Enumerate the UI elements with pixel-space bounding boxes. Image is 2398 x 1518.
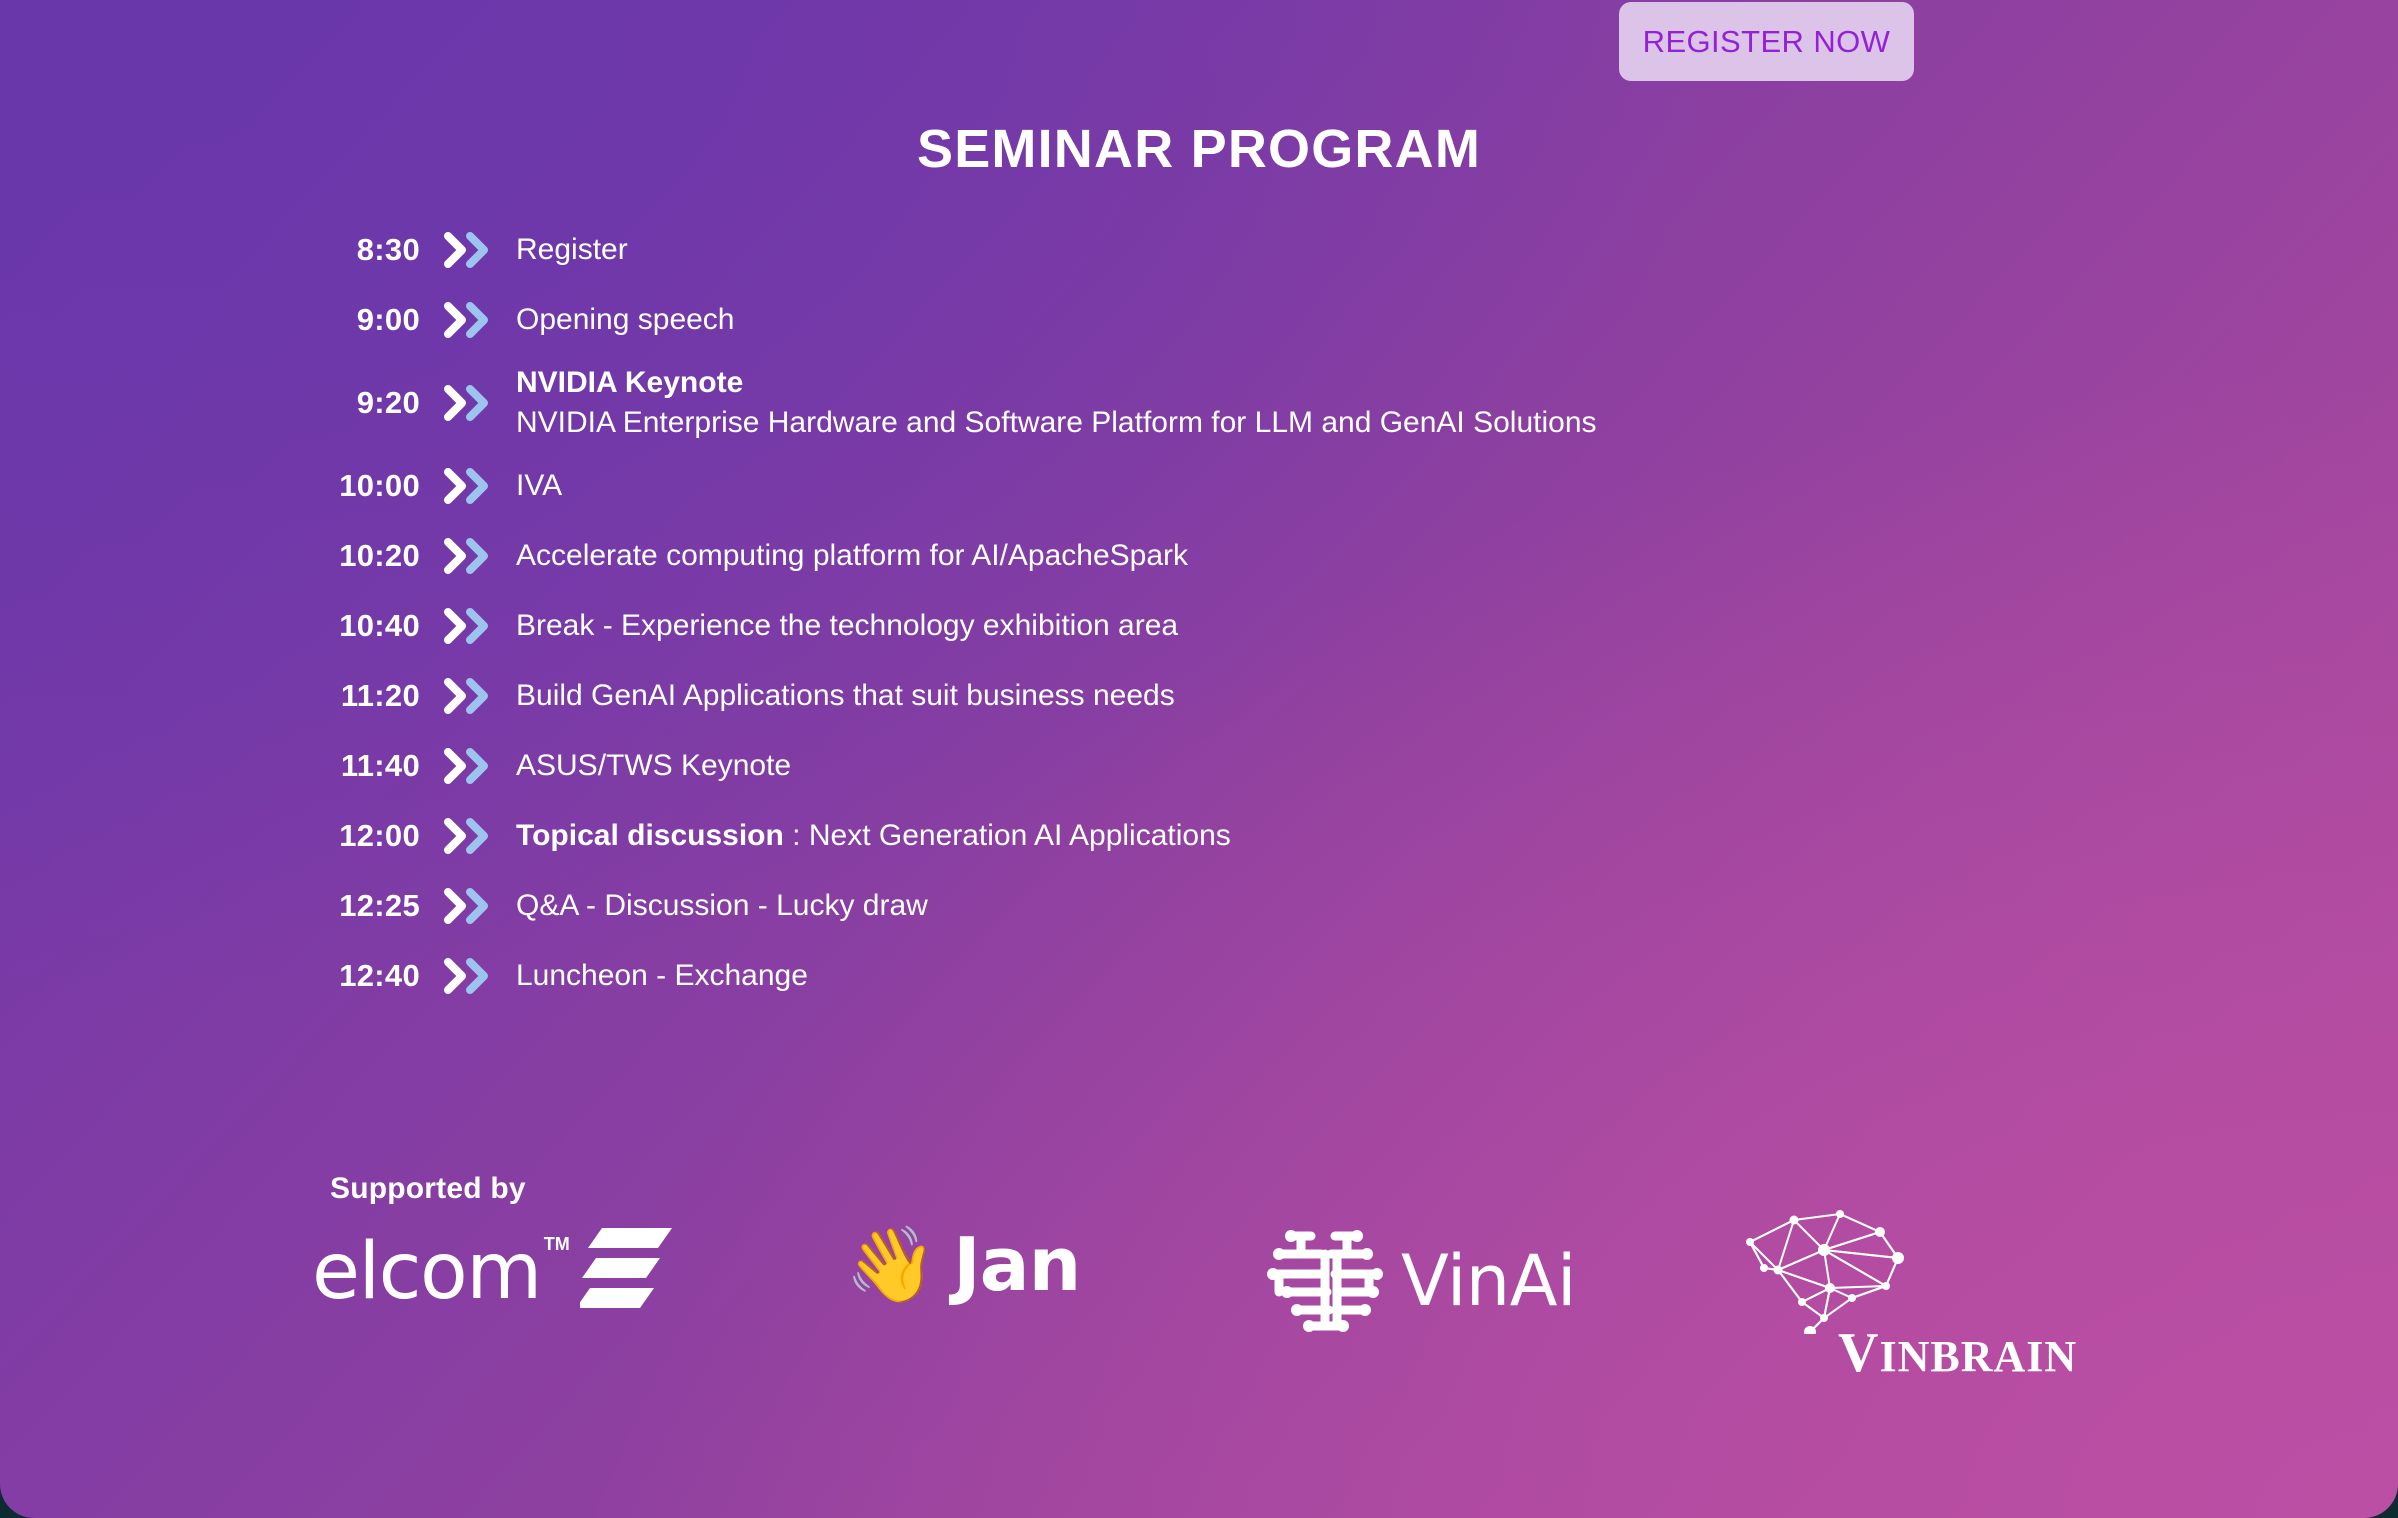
program-title: Luncheon - Exchange	[516, 959, 808, 992]
double-chevron-right-icon	[437, 748, 501, 784]
supported-by-label: Supported by	[330, 1172, 526, 1206]
program-time: 10:00	[300, 468, 420, 504]
program-time: 12:25	[300, 888, 420, 924]
elcom-wordmark: elcom	[312, 1233, 541, 1311]
program-title: Register	[516, 233, 628, 266]
program-description: Register	[516, 230, 628, 270]
program-description: Accelerate computing platform for AI/Apa…	[516, 536, 1188, 576]
vinai-wordmark: VinAi	[1401, 1246, 1576, 1316]
program-row: 12:40Luncheon - Exchange	[300, 941, 2000, 1011]
double-chevron-right-icon	[437, 818, 501, 854]
sponsor-logos: elcom TM 👋 Jan	[300, 1218, 2200, 1358]
double-chevron-right-icon	[437, 958, 501, 994]
page-title: SEMINAR PROGRAM	[0, 118, 2398, 180]
program-description: Build GenAI Applications that suit busin…	[516, 676, 1175, 716]
program-time: 9:00	[300, 302, 420, 338]
program-row: 12:00Topical discussion : Next Generatio…	[300, 801, 2000, 871]
program-row: 8:30Register	[300, 215, 2000, 285]
program-row: 10:20Accelerate computing platform for A…	[300, 521, 2000, 591]
program-row: 12:25Q&A - Discussion - Lucky draw	[300, 871, 2000, 941]
program-row: 9:20NVIDIA KeynoteNVIDIA Enterprise Hard…	[300, 355, 2000, 451]
program-schedule-list: 8:30Register9:00Opening speech9:20NVIDIA…	[300, 215, 2000, 1011]
program-time: 11:20	[300, 678, 420, 714]
program-title: Break - Experience the technology exhibi…	[516, 609, 1178, 642]
jan-wordmark: Jan	[953, 1228, 1080, 1302]
program-time: 10:20	[300, 538, 420, 574]
program-title-suffix: : Next Generation AI Applications	[784, 819, 1231, 852]
program-description: Topical discussion : Next Generation AI …	[516, 816, 1231, 856]
program-time: 12:40	[300, 958, 420, 994]
brain-network-icon	[1720, 1206, 1970, 1339]
program-description: Break - Experience the technology exhibi…	[516, 606, 1178, 646]
program-time: 11:40	[300, 748, 420, 784]
double-chevron-right-icon	[437, 302, 501, 338]
program-row: 9:00Opening speech	[300, 285, 2000, 355]
trademark-icon: TM	[544, 1234, 570, 1255]
double-chevron-right-icon	[437, 608, 501, 644]
program-title: Topical discussion	[516, 819, 784, 852]
double-chevron-right-icon	[437, 385, 501, 421]
sponsor-logo-vinbrain: VINBRAIN	[1720, 1206, 2077, 1385]
program-description: NVIDIA KeynoteNVIDIA Enterprise Hardware…	[516, 363, 1597, 442]
double-chevron-right-icon	[437, 888, 501, 924]
program-time: 10:40	[300, 608, 420, 644]
program-row: 11:40ASUS/TWS Keynote	[300, 731, 2000, 801]
program-description: Opening speech	[516, 300, 735, 340]
sponsor-logo-jan: 👋 Jan	[845, 1228, 1080, 1302]
double-chevron-right-icon	[437, 678, 501, 714]
program-time: 9:20	[300, 385, 420, 421]
waving-hand-icon: 👋	[845, 1228, 937, 1302]
program-title: Build GenAI Applications that suit busin…	[516, 679, 1175, 712]
program-description: ASUS/TWS Keynote	[516, 746, 791, 786]
program-description: Luncheon - Exchange	[516, 956, 808, 996]
elcom-e-mark-icon	[580, 1226, 672, 1317]
program-title: NVIDIA Keynote	[516, 366, 743, 399]
program-title: Q&A - Discussion - Lucky draw	[516, 889, 928, 922]
program-time: 12:00	[300, 818, 420, 854]
double-chevron-right-icon	[437, 468, 501, 504]
double-chevron-right-icon	[437, 538, 501, 574]
program-description: IVA	[516, 466, 562, 506]
program-title: ASUS/TWS Keynote	[516, 749, 791, 782]
program-time: 8:30	[300, 232, 420, 268]
program-row: 11:20Build GenAI Applications that suit …	[300, 661, 2000, 731]
double-chevron-right-icon	[437, 232, 501, 268]
program-title: IVA	[516, 469, 562, 502]
program-title: Accelerate computing platform for AI/Apa…	[516, 539, 1188, 572]
vinai-circuit-mark-icon	[1265, 1222, 1387, 1339]
program-title: Opening speech	[516, 303, 735, 336]
program-row: 10:00IVA	[300, 451, 2000, 521]
register-now-button[interactable]: REGISTER NOW	[1619, 2, 1914, 81]
seminar-program-slide: REGISTER NOW SEMINAR PROGRAM 8:30Registe…	[0, 0, 2398, 1518]
program-description: Q&A - Discussion - Lucky draw	[516, 886, 928, 926]
program-subtitle: NVIDIA Enterprise Hardware and Software …	[516, 403, 1597, 443]
sponsor-logo-elcom: elcom TM	[312, 1226, 672, 1317]
program-row: 10:40Break - Experience the technology e…	[300, 591, 2000, 661]
sponsor-logo-vinai: VinAi	[1265, 1222, 1576, 1339]
vinbrain-wordmark: VINBRAIN	[1838, 1321, 2077, 1385]
